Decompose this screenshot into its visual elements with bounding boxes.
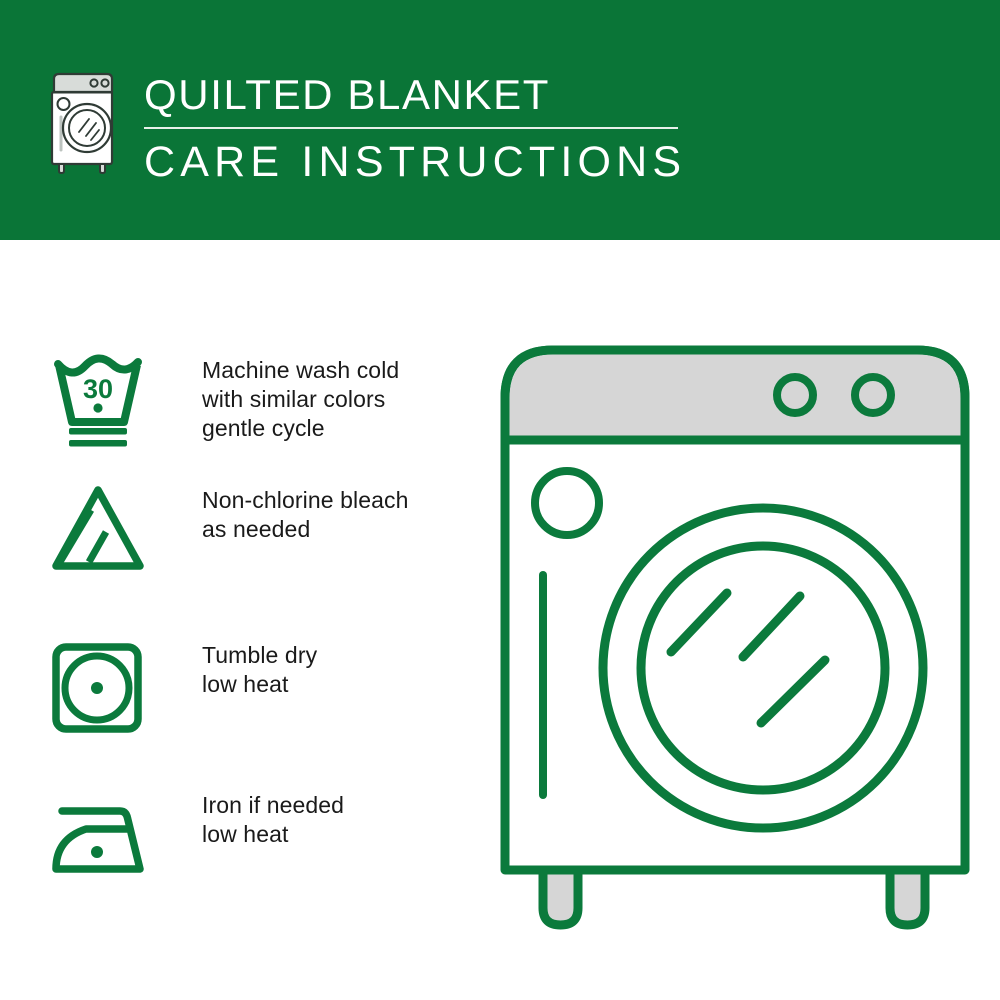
front-load-washing-machine-illustration: [495, 330, 975, 940]
care-text-line: low heat: [202, 670, 317, 699]
care-text-line: Iron if needed: [202, 791, 344, 820]
page-title: QUILTED BLANKET: [144, 72, 704, 118]
care-text-line: low heat: [202, 820, 344, 849]
care-text-line: Non-chlorine bleach: [202, 486, 408, 515]
iron-low-heat-icon: [48, 785, 160, 894]
care-item-machine-wash: 30 Machine wash cold with similar colors…: [48, 350, 488, 459]
washing-machine-icon: [46, 70, 120, 175]
leg-left: [543, 870, 578, 925]
title-divider: [144, 127, 678, 129]
care-item-machine-wash-text: Machine wash cold with similar colors ge…: [202, 350, 399, 443]
wash-tub-30-gentle-icon: 30: [48, 350, 160, 459]
wash-temperature-label: 30: [83, 374, 113, 404]
care-item-iron: Iron if needed low heat: [48, 785, 488, 894]
page-subtitle: CARE INSTRUCTIONS: [144, 137, 704, 187]
care-text-line: as needed: [202, 515, 408, 544]
care-item-tumble-dry: Tumble dry low heat: [48, 635, 488, 744]
non-chlorine-bleach-triangle-icon: [48, 480, 160, 589]
care-text-line: Tumble dry: [202, 641, 317, 670]
care-item-bleach: Non-chlorine bleach as needed: [48, 480, 488, 589]
care-item-bleach-text: Non-chlorine bleach as needed: [202, 480, 408, 544]
care-item-iron-text: Iron if needed low heat: [202, 785, 344, 849]
care-text-line: with similar colors: [202, 385, 399, 414]
care-item-tumble-dry-text: Tumble dry low heat: [202, 635, 317, 699]
header-title-block: QUILTED BLANKET CARE INSTRUCTIONS: [144, 72, 704, 187]
tumble-dry-low-heat-icon: [48, 635, 160, 744]
care-instructions-list: 30 Machine wash cold with similar colors…: [0, 240, 500, 1000]
header-banner: QUILTED BLANKET CARE INSTRUCTIONS: [0, 0, 1000, 240]
leg-right: [890, 870, 925, 925]
care-text-line: gentle cycle: [202, 414, 399, 443]
care-text-line: Machine wash cold: [202, 356, 399, 385]
